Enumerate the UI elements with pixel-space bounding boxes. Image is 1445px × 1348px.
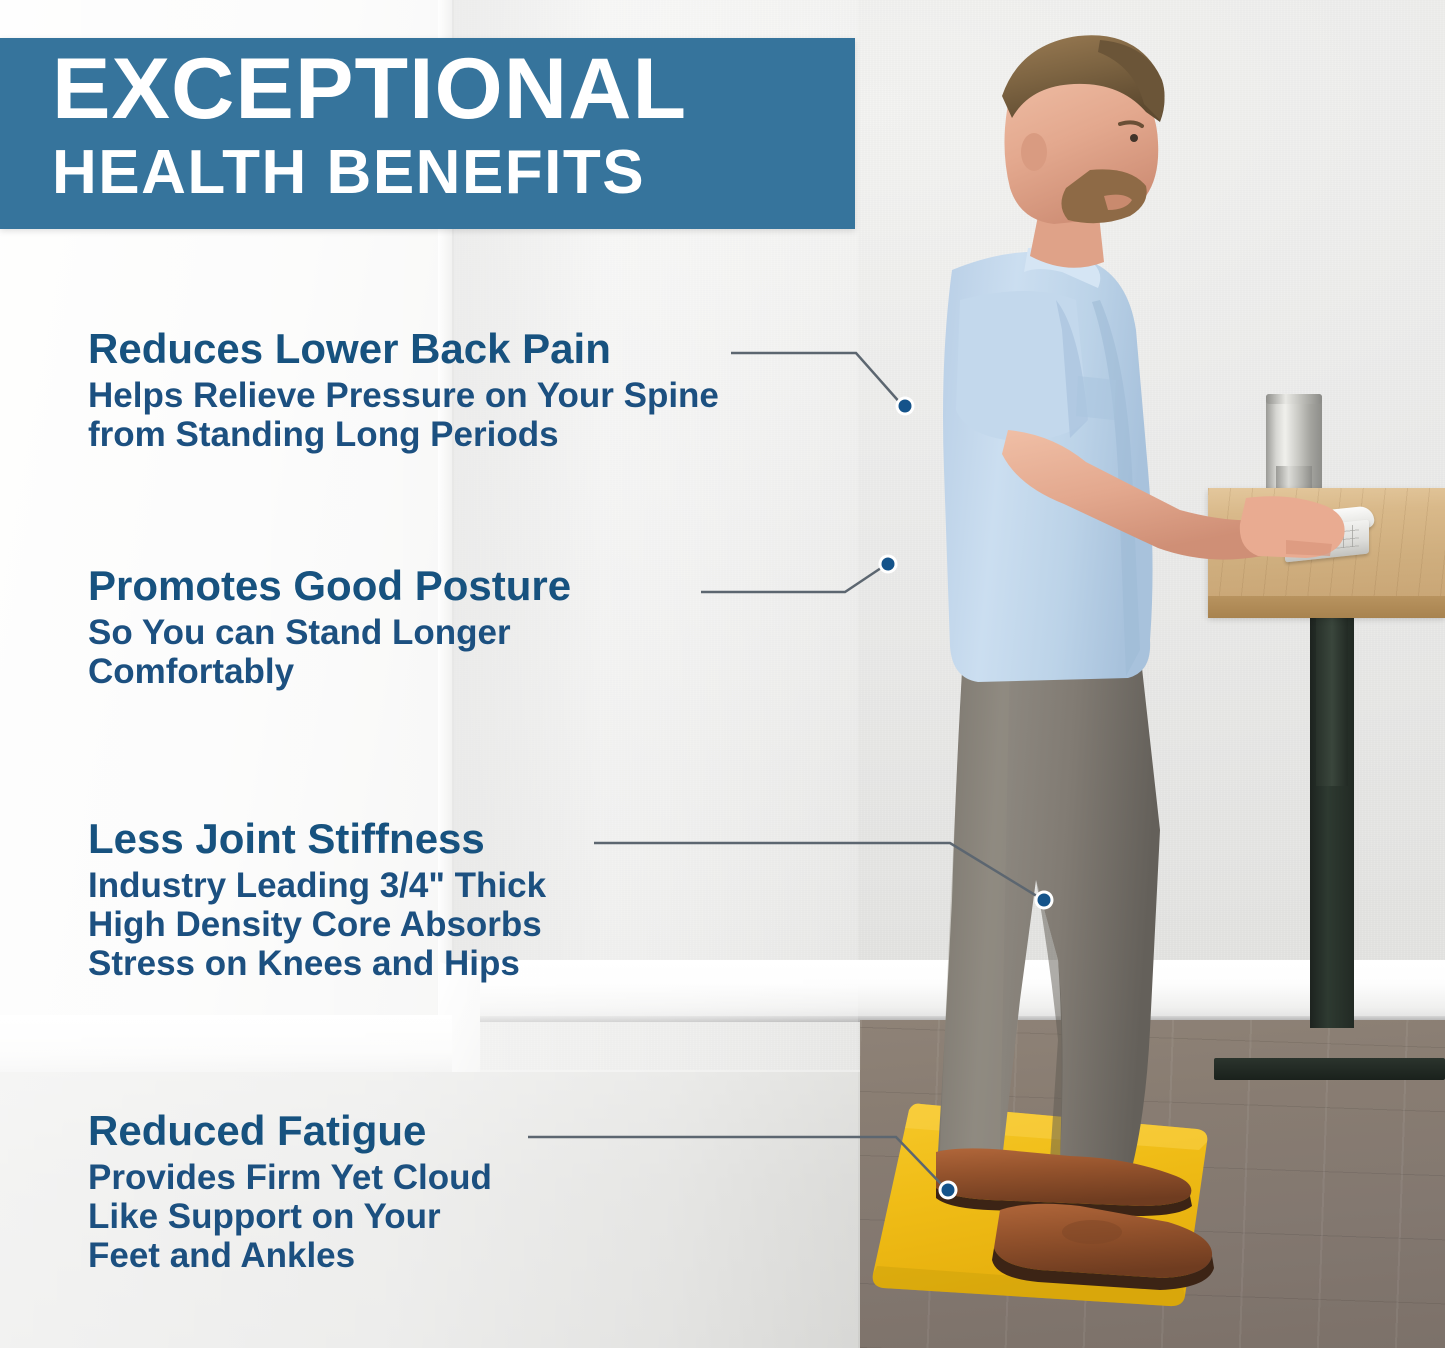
benefit-subtext-line: Like Support on Your	[88, 1197, 492, 1236]
benefit-title: Reduced Fatigue	[88, 1110, 492, 1152]
benefit-title: Less Joint Stiffness	[88, 818, 546, 860]
header-banner: EXCEPTIONAL HEALTH BENEFITS	[0, 38, 855, 229]
benefit-block-promotes-good-posture: Promotes Good Posture So You can Stand L…	[88, 565, 571, 691]
benefit-subtext-line: Feet and Ankles	[88, 1236, 492, 1275]
benefit-title: Reduces Lower Back Pain	[88, 328, 719, 370]
banner-title-line2: HEALTH BENEFITS	[52, 142, 855, 204]
infographic-page: EXCEPTIONAL HEALTH BENEFITS Reduces Lowe…	[0, 0, 1445, 1348]
benefit-subtext-line: Provides Firm Yet Cloud	[88, 1158, 492, 1197]
benefit-subtext-line: So You can Stand Longer	[88, 613, 571, 652]
benefit-subtext-line: Industry Leading 3/4" Thick	[88, 866, 546, 905]
benefit-subtext-line: from Standing Long Periods	[88, 415, 719, 454]
benefit-block-reduced-fatigue: Reduced Fatigue Provides Firm Yet Cloud …	[88, 1110, 492, 1276]
banner-title-line1: EXCEPTIONAL	[52, 46, 871, 132]
benefit-block-less-joint-stiffness: Less Joint Stiffness Industry Leading 3/…	[88, 818, 546, 984]
benefit-subtext-line: Comfortably	[88, 652, 571, 691]
benefit-block-reduces-lower-back-pain: Reduces Lower Back Pain Helps Relieve Pr…	[88, 328, 719, 454]
benefit-subtext: Helps Relieve Pressure on Your Spine fro…	[88, 376, 719, 454]
benefit-subtext: So You can Stand Longer Comfortably	[88, 613, 571, 691]
benefit-subtext-line: High Density Core Absorbs	[88, 905, 546, 944]
benefit-subtext: Provides Firm Yet Cloud Like Support on …	[88, 1158, 492, 1276]
benefit-subtext-line: Stress on Knees and Hips	[88, 944, 546, 983]
benefit-subtext-line: Helps Relieve Pressure on Your Spine	[88, 376, 719, 415]
benefit-subtext: Industry Leading 3/4" Thick High Density…	[88, 866, 546, 984]
benefit-title: Promotes Good Posture	[88, 565, 571, 607]
